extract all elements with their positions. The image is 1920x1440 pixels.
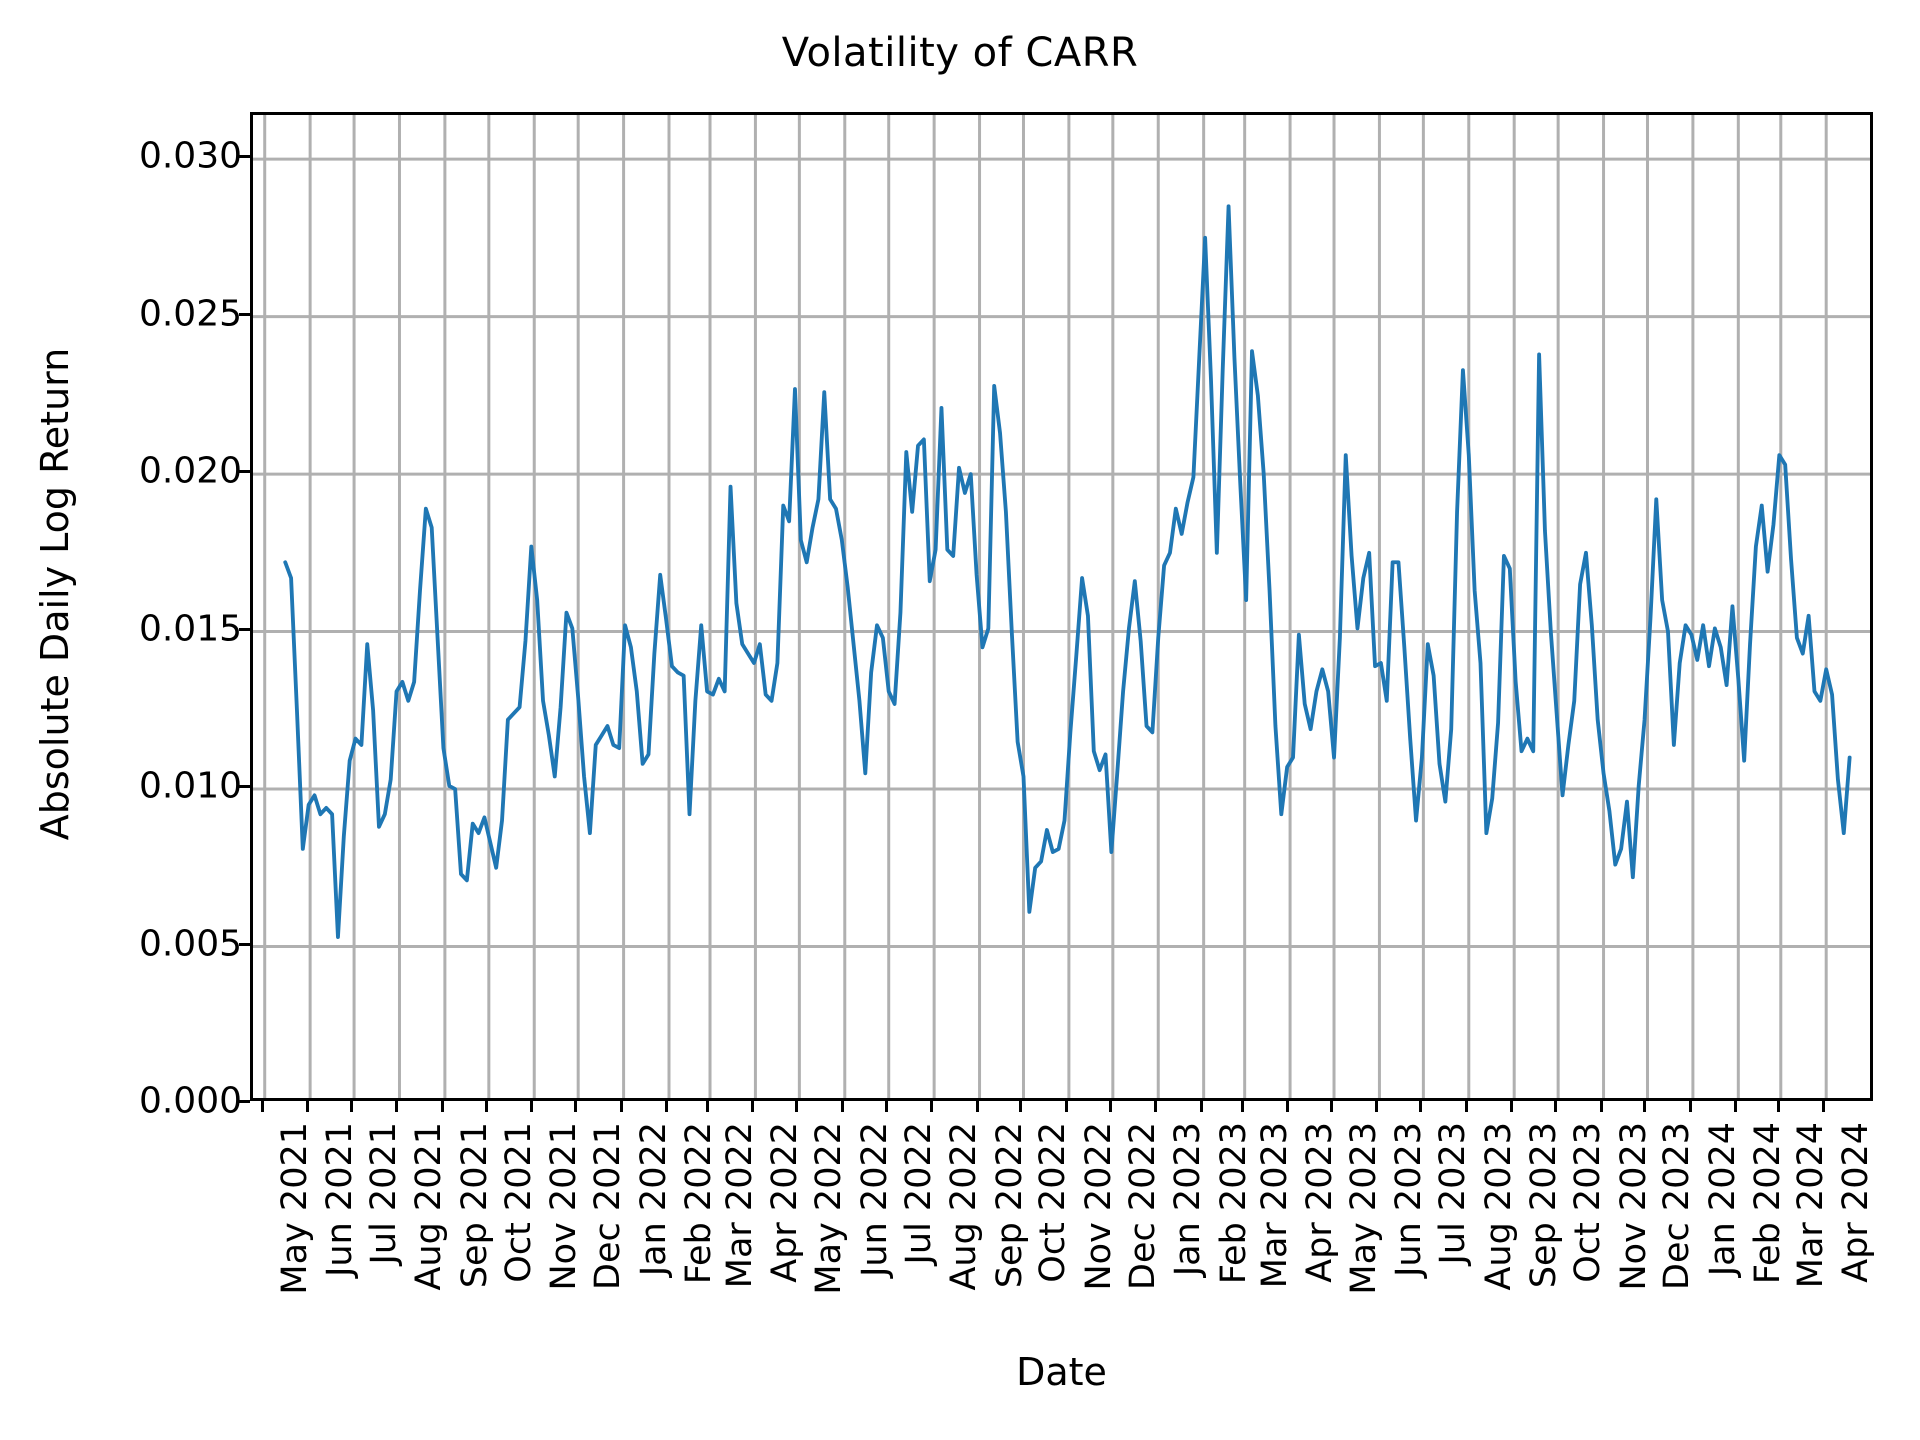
x-tick-mark [261,1101,264,1112]
y-tick-mark [239,785,250,788]
y-tick-mark [239,470,250,473]
y-tick-label: 0.015 [42,608,242,649]
volatility-line-series [253,115,1873,1101]
y-tick-mark [239,155,250,158]
plot-area [250,112,1873,1101]
y-tick-label: 0.030 [42,136,242,177]
y-tick-mark [239,313,250,316]
y-tick-label: 0.020 [42,451,242,492]
y-tick-label: 0.025 [42,293,242,334]
matplotlib-figure: Volatility of CARR Absolute Daily Log Re… [0,0,1920,1440]
y-tick-mark [239,943,250,946]
y-tick-mark [239,628,250,631]
y-tick-mark [239,1100,250,1103]
y-tick-label: 0.000 [42,1081,242,1122]
chart-title: Volatility of CARR [0,30,1920,76]
y-tick-label: 0.010 [42,766,242,807]
x-axis-label: Date [250,1350,1873,1394]
y-tick-label: 0.005 [42,923,242,964]
